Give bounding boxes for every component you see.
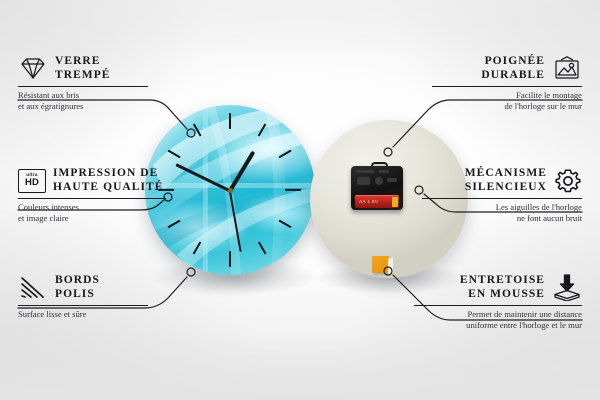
feature-divider — [414, 305, 582, 306]
feature-description: Surface lisse et sûre — [18, 309, 148, 320]
feature-divider — [18, 198, 166, 199]
feature-divider — [18, 305, 148, 306]
gear-icon — [554, 168, 582, 194]
feature-description: Couleurs intenses et image claire — [18, 202, 166, 224]
feature-impression-haute-qualite: ultra HD IMPRESSION DEHAUTE QUALITÉ Coul… — [18, 167, 166, 224]
feature-title: ENTRETOISEEN MOUSSE — [460, 274, 545, 301]
feature-poignee-durable: POIGNÉEDURABLE Facilite le montage de l'… — [432, 55, 582, 112]
feature-description: Permet de maintenir une distance uniform… — [414, 309, 582, 331]
feature-description: Les aiguilles de l'horloge ne font aucun… — [422, 202, 582, 224]
diagonal-lines-icon — [18, 275, 48, 300]
infographic-canvas: AA 1.5V — [0, 0, 600, 400]
badge-hd-text: HD — [25, 178, 39, 188]
feature-description: Résistant aux bris et aux égratignures — [18, 90, 148, 112]
feature-divider — [422, 198, 582, 199]
ultra-hd-badge-icon: ultra HD — [18, 169, 46, 193]
feature-divider — [18, 86, 148, 87]
feature-title: IMPRESSION DEHAUTE QUALITÉ — [53, 167, 163, 194]
feature-title: VERRETREMPÉ — [55, 55, 111, 82]
feature-description: Facilite le montage de l'horloge sur le … — [432, 90, 582, 112]
diamond-icon — [18, 56, 48, 81]
feature-bords-polis: BORDSPOLIS Surface lisse et sûre — [18, 274, 148, 320]
feature-title: POIGNÉEDURABLE — [481, 55, 545, 82]
feature-mecanisme-silencieux: MÉCANISMESILENCIEUX Les aiguilles de l'h… — [422, 167, 582, 224]
feature-title: MÉCANISMESILENCIEUX — [465, 167, 547, 194]
foam-spacer-arrow-icon — [552, 274, 582, 301]
feature-entretoise-en-mousse: ENTRETOISEEN MOUSSE Permet de maintenir … — [414, 274, 582, 331]
picture-hanger-icon — [552, 56, 582, 82]
feature-verre-trempe: VERRETREMPÉ Résistant aux bris et aux ég… — [18, 55, 148, 112]
feature-divider — [432, 86, 582, 87]
feature-title: BORDSPOLIS — [55, 274, 100, 301]
